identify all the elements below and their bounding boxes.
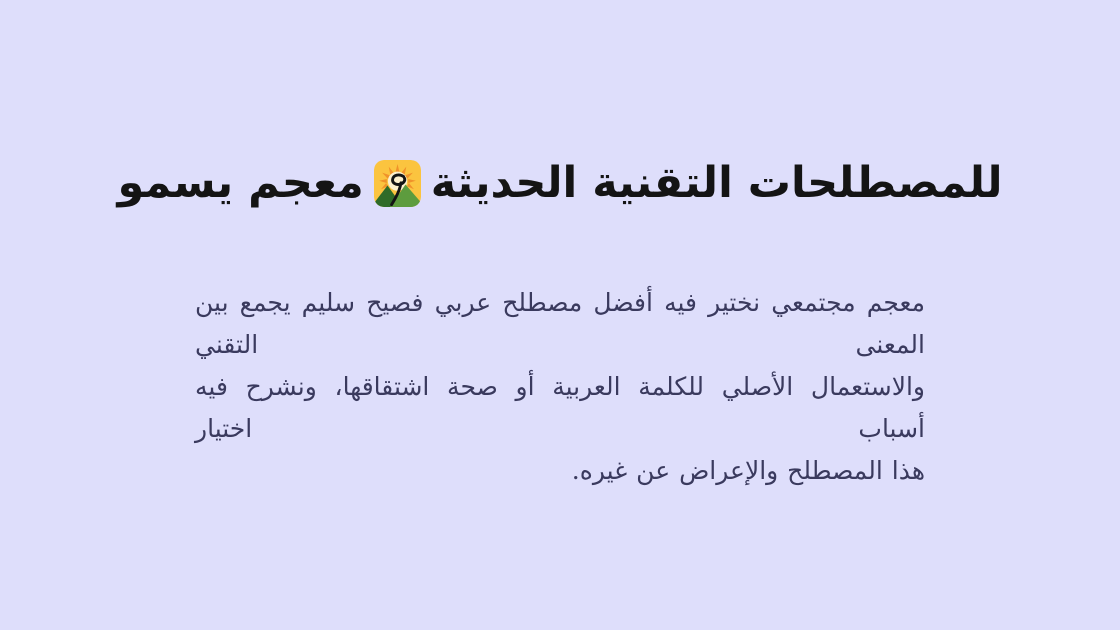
page-description: معجم مجتمعي نختير فيه أفضل مصطلح عربي فص… bbox=[195, 282, 925, 492]
page-description-text: معجم مجتمعي نختير فيه أفضل مصطلح عربي فص… bbox=[195, 282, 925, 492]
page-title: للمصطلحات التقنية الحديثة bbox=[195, 152, 925, 214]
page-root: للمصطلحات التقنية الحديثة bbox=[0, 0, 1120, 630]
page-title-text: للمصطلحات التقنية الحديثة bbox=[195, 152, 925, 214]
description-line: والاستعمال الأصلي للكلمة العربية أو صحة … bbox=[195, 366, 925, 450]
page-title-segment-trailing: معجم يسمو bbox=[118, 152, 364, 214]
description-line: معجم مجتمعي نختير فيه أفضل مصطلح عربي فص… bbox=[195, 282, 925, 366]
description-line: هذا المصطلح والإعراض عن غيره. bbox=[195, 450, 925, 492]
sunrise-over-hills-logo-icon bbox=[374, 160, 421, 207]
page-title-segment-leading: للمصطلحات التقنية الحديثة bbox=[431, 152, 1003, 214]
